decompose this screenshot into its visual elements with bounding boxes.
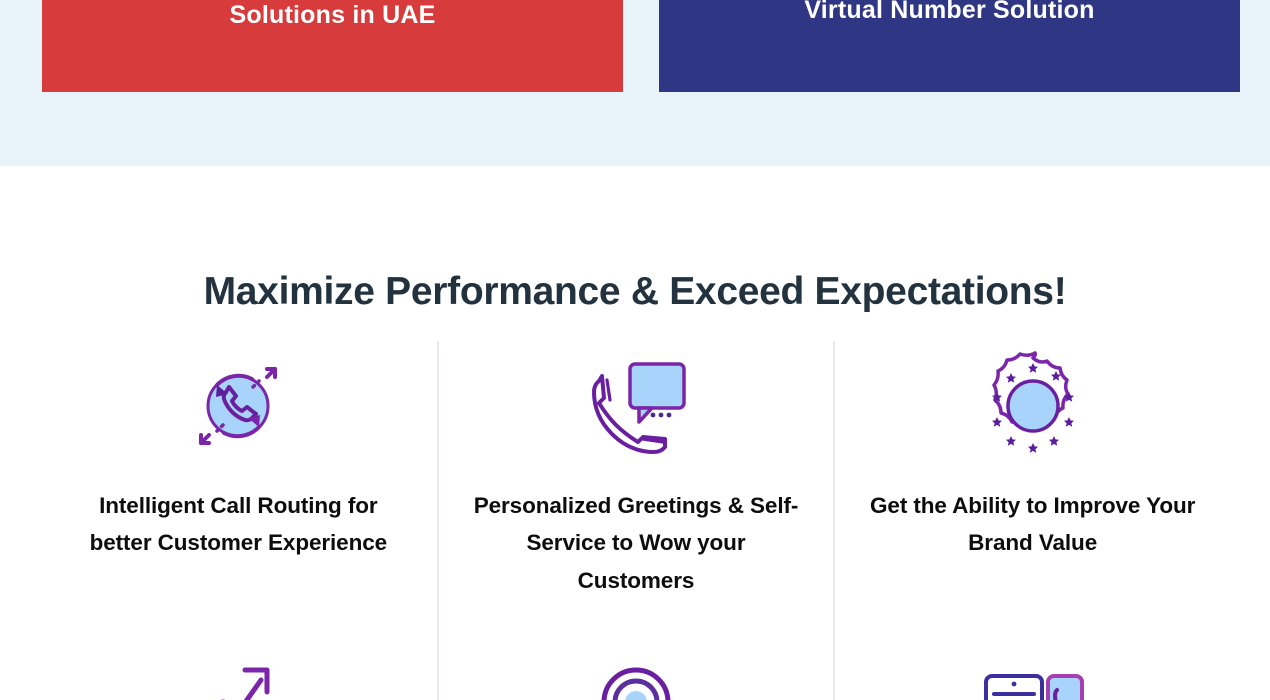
- feature-grid-row-2: [40, 618, 1230, 700]
- growth-arrow-icon: [179, 636, 297, 700]
- hero-band: Solutions in UAE Virtual Number Solution: [0, 0, 1270, 166]
- cta-button-row: Solutions in UAE Virtual Number Solution: [42, 0, 1240, 92]
- feature-grid-row-1: Intelligent Call Routing for better Cust…: [40, 341, 1230, 618]
- solutions-in-uae-button[interactable]: Solutions in UAE: [42, 0, 623, 92]
- brand-badge-icon: [974, 347, 1092, 465]
- target-circle-icon: [577, 636, 695, 700]
- page-title: Maximize Performance & Exceed Expectatio…: [0, 270, 1270, 314]
- features-section: Maximize Performance & Exceed Expectatio…: [0, 166, 1270, 700]
- virtual-number-solution-label: Virtual Number Solution: [665, 0, 1234, 25]
- feature-card-call-routing[interactable]: Intelligent Call Routing for better Cust…: [40, 341, 437, 618]
- call-routing-icon: [179, 347, 297, 465]
- feature-title: Intelligent Call Routing for better Cust…: [73, 487, 403, 562]
- feature-card-personalized-greetings[interactable]: Personalized Greetings & Self-Service to…: [437, 341, 834, 618]
- page-root: Solutions in UAE Virtual Number Solution…: [0, 0, 1270, 700]
- feature-card-brand-value[interactable]: Get the Ability to Improve Your Brand Va…: [833, 341, 1230, 618]
- feature-card-growth[interactable]: [40, 618, 437, 700]
- feature-card-ivr-keypad[interactable]: [833, 618, 1230, 700]
- solutions-in-uae-label: Solutions in UAE: [48, 0, 617, 30]
- virtual-number-solution-button[interactable]: Virtual Number Solution: [659, 0, 1240, 92]
- feature-title: Get the Ability to Improve Your Brand Va…: [868, 487, 1198, 562]
- feature-title: Personalized Greetings & Self-Service to…: [471, 487, 801, 599]
- feature-card-target[interactable]: [437, 618, 834, 700]
- phone-chat-icon: [577, 347, 695, 465]
- ivr-keypad-icon: [974, 636, 1092, 700]
